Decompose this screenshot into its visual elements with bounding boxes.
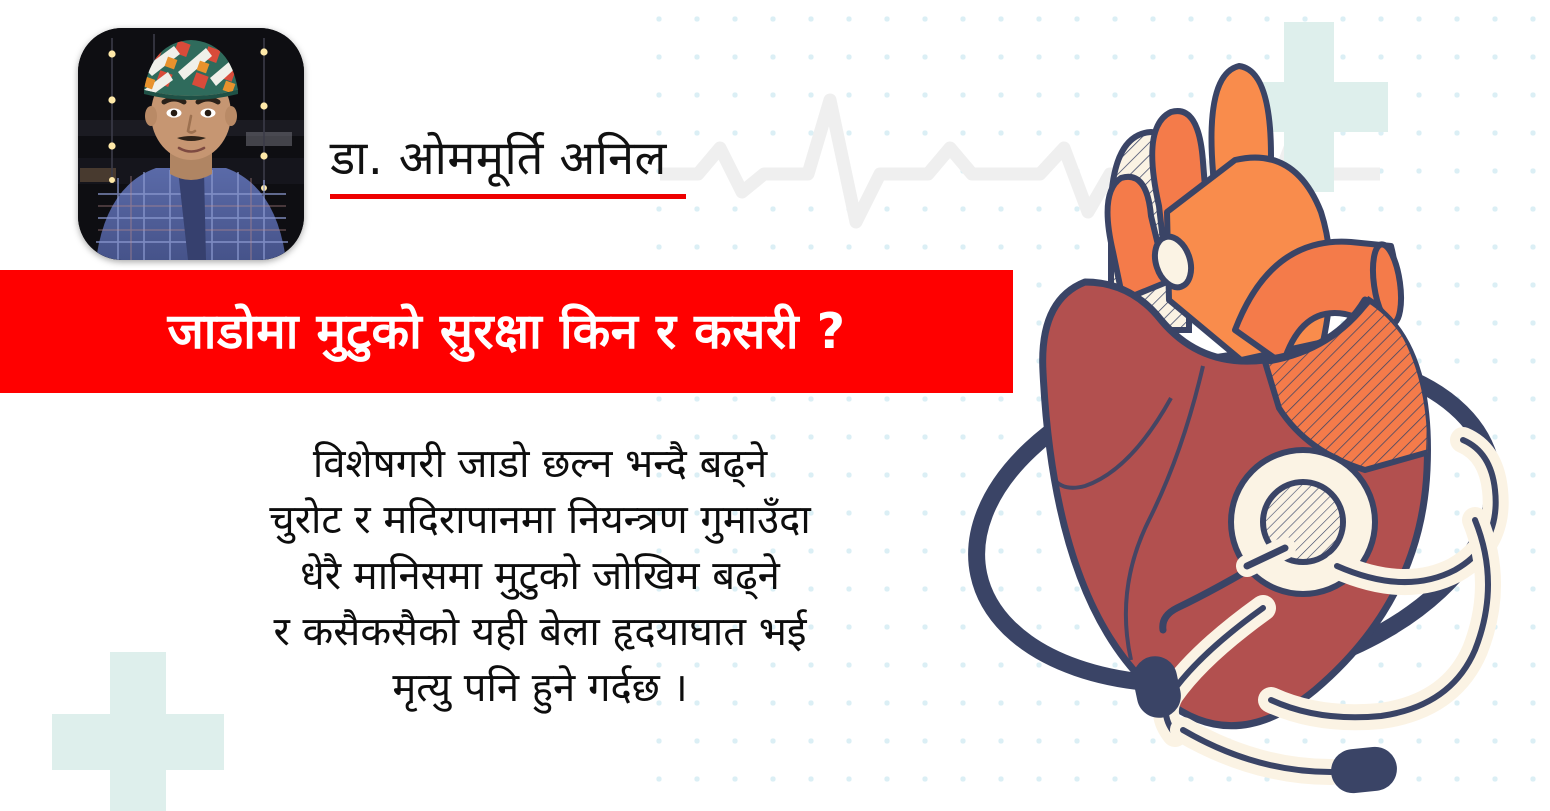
body-line: र कसैकसैको यही बेला हृदयाघात भई — [120, 604, 960, 660]
doctor-name: डा. ओममूर्ति अनिल — [330, 132, 667, 186]
headline-text: जाडोमा मुटुको सुरक्षा किन र कसरी ? — [167, 297, 845, 363]
body-paragraph: विशेषगरी जाडो छल्न भन्दै बढ्ने चुरोट र म… — [120, 436, 960, 716]
body-line: धेरै मानिसमा मुटुको जोखिम बढ्ने — [120, 548, 960, 604]
body-line: विशेषगरी जाडो छल्न भन्दै बढ्ने — [120, 436, 960, 492]
headline-banner: जाडोमा मुटुको सुरक्षा किन र कसरी ? — [0, 270, 1013, 393]
heart-illustration — [935, 0, 1550, 811]
poster-canvas: डा. ओममूर्ति अनिल जाडोमा मुटुको सुरक्षा … — [0, 0, 1550, 811]
avatar — [78, 28, 304, 260]
body-line: चुरोट र मदिरापानमा नियन्त्रण गुमाउँदा — [120, 492, 960, 548]
doctor-name-underline — [330, 194, 686, 199]
body-line: मृत्यु पनि हुने गर्दछ । — [120, 660, 960, 716]
